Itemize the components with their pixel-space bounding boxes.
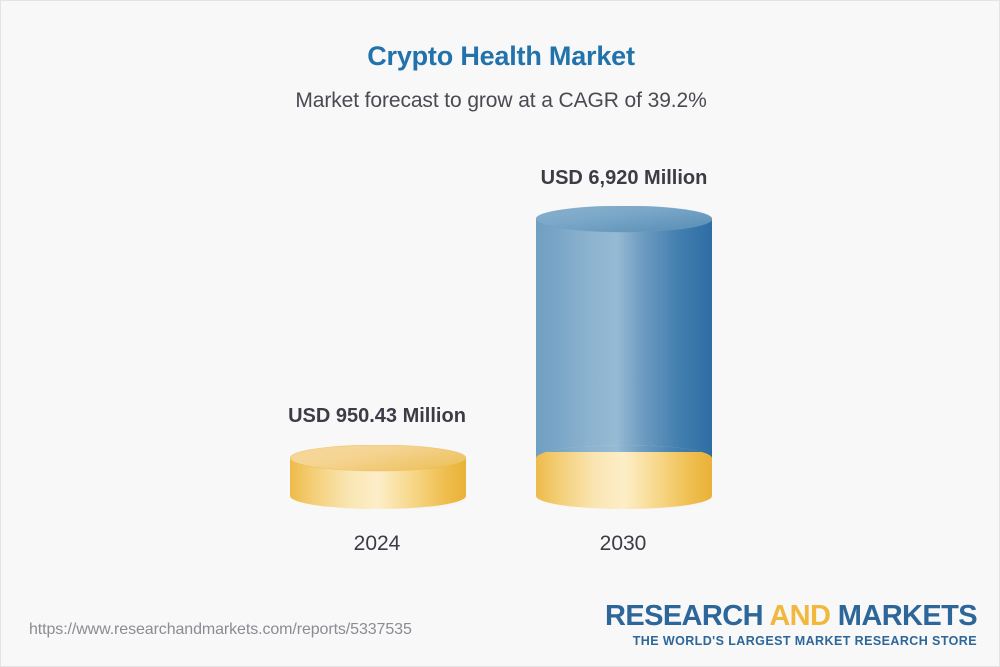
report-url[interactable]: https://www.researchandmarkets.com/repor…: [29, 621, 412, 639]
bar-cylinder-2030: [536, 206, 712, 509]
logo-markets-text: MARKETS: [830, 600, 977, 632]
chart-canvas: Crypto Health Market Market forecast to …: [0, 0, 1000, 667]
logo-wordmark: RESEARCH AND MARKETS: [605, 601, 977, 631]
logo-and-text: AND: [769, 600, 830, 632]
category-label-2024: 2024: [277, 532, 477, 556]
bar-cylinder-2024: [290, 445, 466, 509]
category-label-2030: 2030: [523, 532, 723, 556]
logo-tagline: THE WORLD'S LARGEST MARKET RESEARCH STOR…: [605, 634, 977, 648]
logo-research-text: RESEARCH: [605, 600, 769, 632]
research-and-markets-logo: RESEARCH AND MARKETS THE WORLD'S LARGEST…: [605, 601, 977, 648]
value-label-2024: USD 950.43 Million: [227, 405, 527, 428]
value-label-2030: USD 6,920 Million: [474, 167, 774, 190]
plot-area: USD 950.43 Million USD 6,920 Million 202…: [1, 1, 1000, 601]
